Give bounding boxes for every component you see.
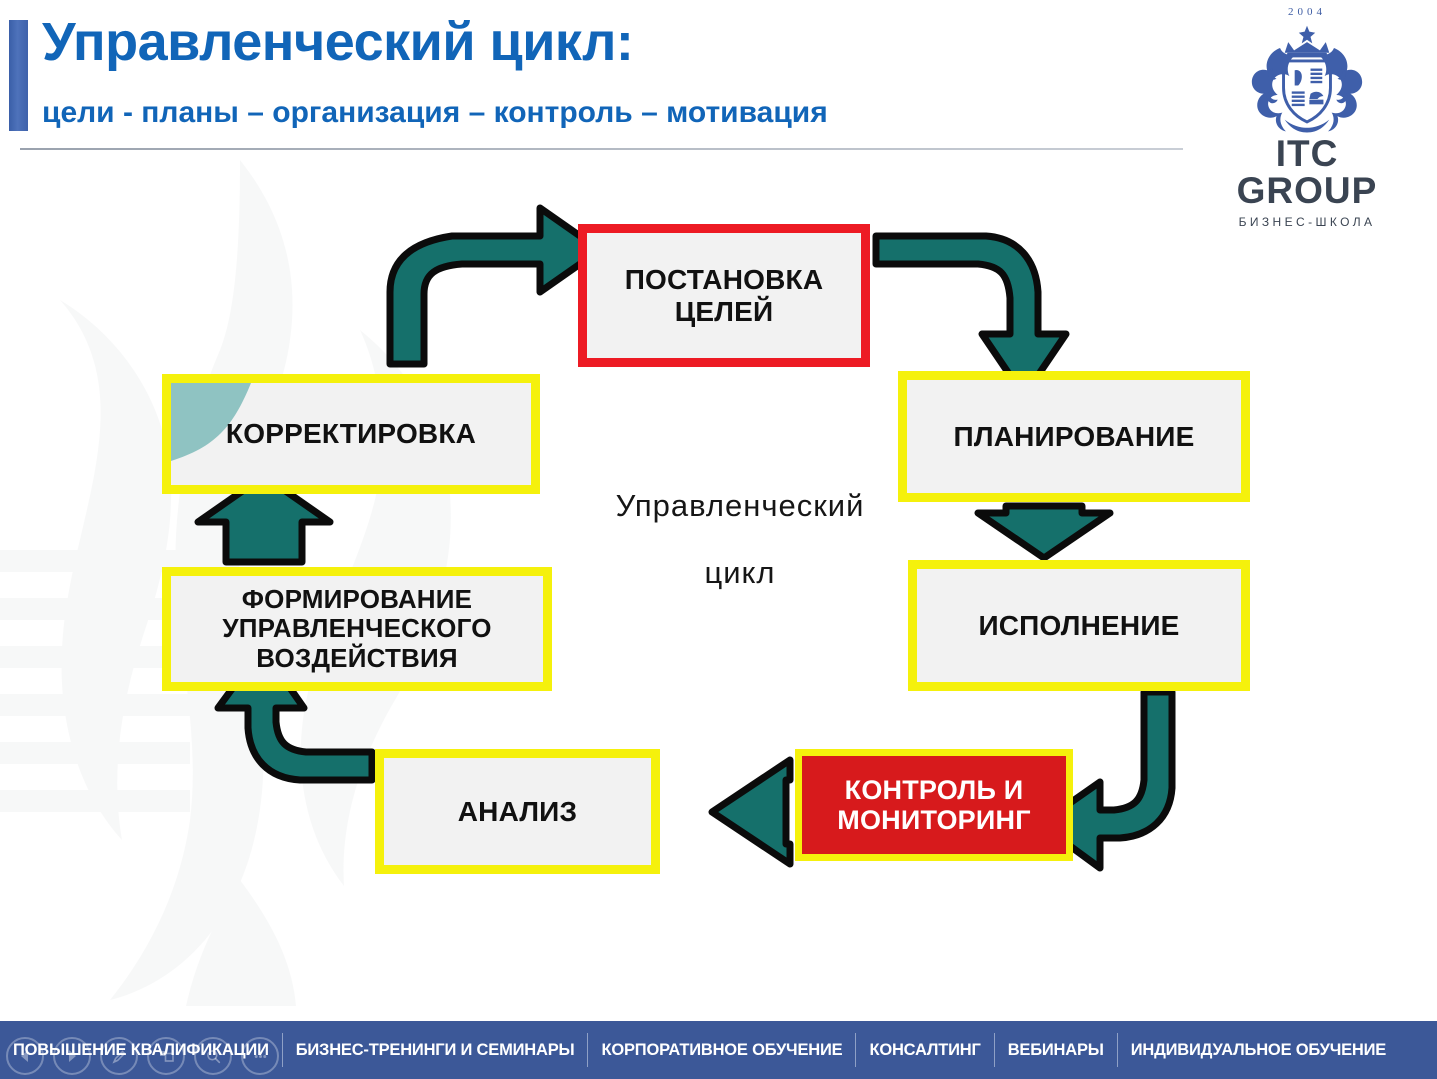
footer-item-1[interactable]: БИЗНЕС-ТРЕНИНГИ И СЕМИНАРЫ [283,1042,588,1059]
header-divider [20,148,1183,150]
presenter-controls[interactable] [6,1037,279,1075]
footer-item-3[interactable]: КОНСАЛТИНГ [856,1042,993,1059]
node-management-influence[interactable]: ФОРМИРОВАНИЕ УПРАВЛЕНЧЕСКОГО ВОЗДЕЙСТВИЯ [162,567,552,691]
logo-tagline: БИЗНЕС-ШКОЛА [1201,215,1413,229]
footer-item-5[interactable]: ИНДИВИДУАЛЬНОЕ ОБУЧЕНИЕ [1118,1042,1399,1059]
itc-group-logo: 2004 [1201,4,1413,192]
node-planning-label: ПЛАНИРОВАНИЕ [954,421,1195,452]
node-correction[interactable]: КОРРЕКТИРОВКА [162,374,540,494]
more-options-icon [252,1048,269,1065]
node-goal-setting-line2: ЦЕЛЕЙ [675,296,774,327]
management-cycle-diagram: Управленческий цикл ПОСТАНОВКА ЦЕЛЕЙ ПЛА… [0,168,1437,1016]
node-goal-setting[interactable]: ПОСТАНОВКА ЦЕЛЕЙ [578,224,870,367]
previous-slide-button[interactable] [6,1037,44,1075]
center-label-line1: Управленческий [560,473,920,540]
zoom-icon [205,1048,222,1065]
node-control-monitoring[interactable]: КОНТРОЛЬ И МОНИТОРИНГ [795,749,1073,861]
all-slides-button[interactable] [147,1037,185,1075]
page-subtitle: цели - планы – организация – контроль – … [42,96,828,130]
arrow-correction-to-goals [390,208,600,364]
page-title: Управленческий цикл: [42,14,633,71]
center-label-line2: цикл [560,540,920,607]
all-slides-icon [158,1048,175,1065]
title-accent-bar [9,20,28,131]
heraldic-crest-icon [1219,16,1395,134]
node-management-influence-line1: ФОРМИРОВАНИЕ [242,585,472,614]
arrow-planning-to-execution [978,506,1110,558]
more-options-button[interactable] [241,1037,279,1075]
node-management-influence-line3: ВОЗДЕЙСТВИЯ [256,644,458,673]
node-analysis-label: АНАЛИЗ [458,796,578,827]
node-correction-label: КОРРЕКТИРОВКА [226,418,476,449]
node-management-influence-line2: УПРАВЛЕНЧЕСКОГО [222,614,491,643]
next-slide-icon [64,1048,80,1064]
logo-wordmark: ITC GROUP [1201,135,1413,209]
node-execution-label: ИСПОЛНЕНИЕ [978,610,1179,641]
zoom-button[interactable] [194,1037,232,1075]
node-execution[interactable]: ИСПОЛНЕНИЕ [908,560,1250,691]
node-control-monitoring-line2: МОНИТОРИНГ [837,805,1030,835]
next-slide-button[interactable] [53,1037,91,1075]
footer-item-4[interactable]: ВЕБИНАРЫ [995,1042,1117,1059]
node-control-monitoring-line1: КОНТРОЛЬ И [845,775,1024,805]
node-goal-setting-line1: ПОСТАНОВКА [625,264,824,295]
node-planning[interactable]: ПЛАНИРОВАНИЕ [898,371,1250,502]
node-analysis[interactable]: АНАЛИЗ [375,749,660,874]
previous-slide-icon [17,1048,33,1064]
pen-icon [111,1048,128,1065]
diagram-center-label: Управленческий цикл [560,473,920,606]
footer-item-2[interactable]: КОРПОРАТИВНОЕ ОБУЧЕНИЕ [588,1042,855,1059]
arrow-control-to-analysis [712,760,790,864]
pen-tool-button[interactable] [100,1037,138,1075]
